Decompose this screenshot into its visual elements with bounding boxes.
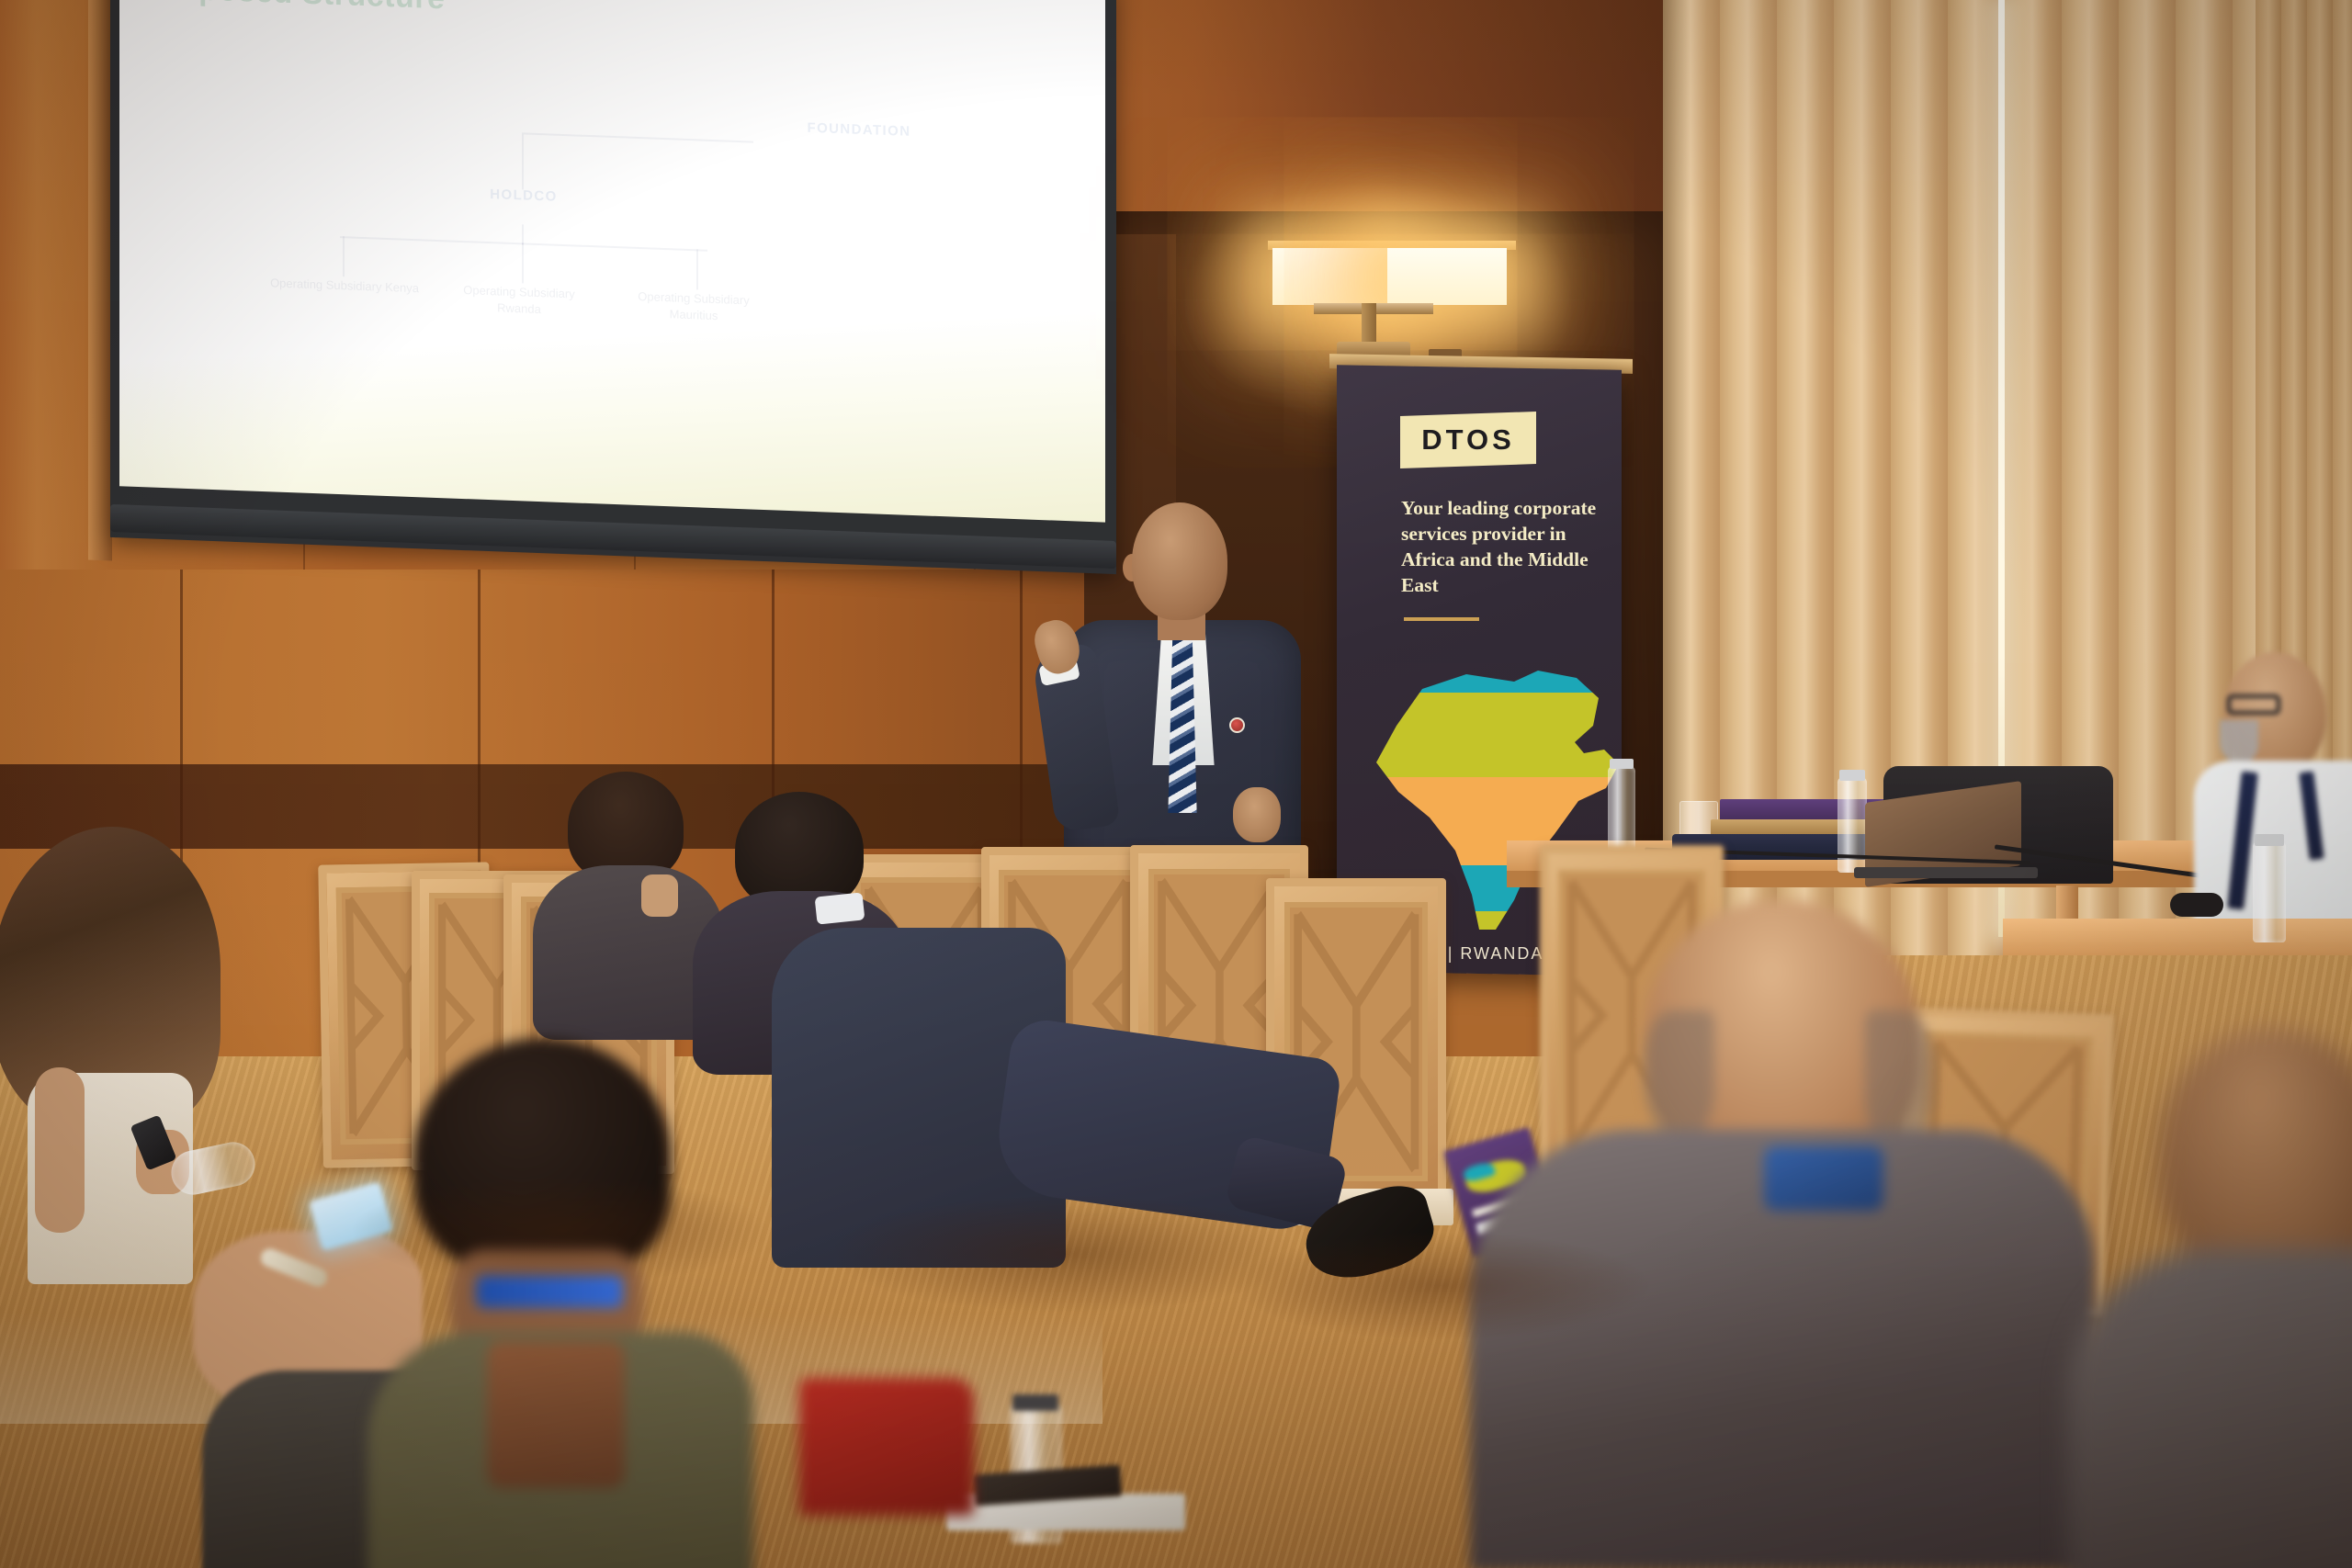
attendee-head (2159, 1029, 2352, 1286)
conference-photo-scene: Proposed Structure FOUNDATION HOLDCO Ope… (0, 0, 2352, 1568)
wristwatch (2170, 893, 2223, 917)
attendee-center-seated (772, 928, 1415, 1442)
water-bottle (1608, 766, 1635, 854)
attendee-neck (641, 874, 678, 917)
presenter-right-hand (1233, 787, 1281, 842)
projection-screen-surface: Proposed Structure FOUNDATION HOLDCO Ope… (119, 0, 1105, 523)
banner-tagline: Your leading corporate services provider… (1401, 496, 1612, 599)
attendee-front-right-grey-suit (1507, 900, 2076, 1568)
presenter-head (1132, 502, 1227, 620)
slide-node-foundation: FOUNDATION (753, 118, 965, 141)
red-bag (799, 1378, 974, 1516)
attendee-suit (2067, 1249, 2352, 1568)
slide-connector (522, 132, 524, 189)
lapel-pin (1229, 717, 1245, 733)
slide-node-holdco: HOLDCO (423, 184, 625, 207)
sconce-stem (1362, 303, 1376, 347)
bottle-cap (1012, 1394, 1058, 1411)
beard (2220, 720, 2258, 762)
attendee-mid-left (533, 772, 717, 1029)
bottle-cap (1839, 770, 1865, 781)
slide-connector (522, 224, 524, 244)
glasses-icon (2227, 694, 2280, 715)
attendee-hair (413, 1038, 671, 1277)
dtos-logo: DTOS (1400, 412, 1536, 468)
slide-connector (696, 249, 698, 289)
attendee-hair (1865, 1010, 1933, 1148)
slide-connector (343, 236, 345, 276)
attendee-shoulder (35, 1067, 85, 1233)
bottle-cap (2255, 834, 2284, 846)
water-bottle (2253, 841, 2286, 942)
lanyard (476, 1275, 623, 1308)
slide-connector (524, 132, 753, 142)
attendee-right-edge (2104, 1029, 2352, 1568)
screen-wall-edge (88, 0, 112, 560)
bottle-cap (1610, 759, 1634, 769)
attendee-collar (815, 892, 865, 924)
attendee-blue-lanyard (377, 1038, 744, 1568)
lamp-shade-right (1387, 248, 1507, 305)
slide-sublabel: Operating Subsidiary Kenya (266, 275, 423, 297)
laptop-base (1854, 867, 2038, 878)
slide-connector (522, 243, 524, 283)
attendee-scarf (487, 1341, 625, 1488)
banner-accent-rule (1404, 617, 1479, 621)
slide-connector (340, 236, 707, 252)
attendee-hair (1645, 1010, 1714, 1139)
lamp-shade-left (1272, 248, 1392, 305)
dtos-logo-text: DTOS (1421, 423, 1515, 457)
slide-sublabel: Operating Subsidiary Rwanda (441, 281, 597, 319)
attendee-collar (1764, 1146, 1883, 1211)
slide-title: Proposed Structure (145, 0, 445, 17)
projection-screen: Proposed Structure FOUNDATION HOLDCO Ope… (110, 0, 1116, 574)
slide-sublabel: Operating Subsidiary Mauritius (616, 288, 772, 325)
